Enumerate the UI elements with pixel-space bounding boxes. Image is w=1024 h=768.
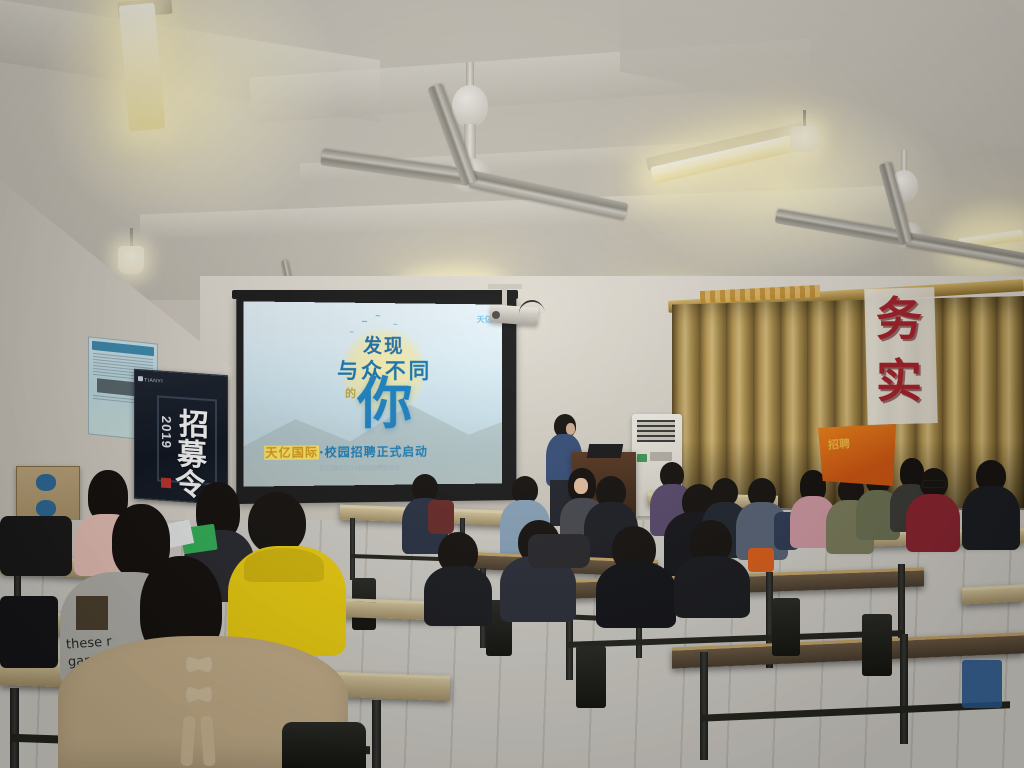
orange-item-on-desk <box>748 548 774 572</box>
desk-leg <box>700 652 708 760</box>
student-face <box>574 478 588 494</box>
student-body <box>962 486 1020 550</box>
air-conditioner-badge <box>637 454 647 462</box>
slide-subtitle: 天亿国际2019校园招聘宣讲会 <box>319 463 400 473</box>
student-backpack <box>428 500 454 534</box>
podium-laptop <box>587 444 623 458</box>
stool <box>772 598 800 656</box>
slide-headline-4: 你 <box>357 377 412 433</box>
pendant-lamp-rod-2 <box>803 110 806 126</box>
glasses-icon <box>922 480 946 488</box>
desk-bag <box>528 534 590 568</box>
hoodie-hood <box>244 548 324 582</box>
student-body <box>674 556 750 618</box>
wall-character-top: 务 <box>876 296 922 342</box>
tshirt-graphic <box>76 596 108 630</box>
student-body <box>0 596 58 668</box>
student-body <box>0 516 72 576</box>
slide-bottom-line: 天亿国际·校园招聘正式启动 <box>264 442 488 461</box>
slide-headline-3: 的 <box>345 385 356 401</box>
student-head <box>248 492 306 554</box>
projector-lens-icon <box>492 311 500 319</box>
slide-bird-3: ∼ <box>393 321 398 328</box>
desk-leg <box>10 688 19 768</box>
banner-logo-mark <box>138 376 143 381</box>
slide-bird-4: ∼ <box>349 329 354 336</box>
projection-screen-roller <box>232 290 518 299</box>
box-globe-icon-2 <box>36 500 56 517</box>
ceiling-fan-1-motor <box>452 85 488 127</box>
foreground-chair <box>282 722 366 768</box>
projection-screen: ∼ ∼ ∼ ∼ 天亿 发现 与众不同 的 你 天亿国际·校园招聘正式启动 天亿国… <box>244 301 502 486</box>
student-body <box>424 566 492 626</box>
box-globe-icon-1 <box>36 474 56 491</box>
classroom-photo: ∼ ∼ ∼ ∼ 天亿 发现 与众不同 的 你 天亿国际·校园招聘正式启动 天亿国… <box>0 0 1024 768</box>
desk-leg <box>350 518 355 580</box>
air-conditioner-vent <box>637 420 675 442</box>
slide-bottom-text: 校园招聘正式启动 <box>325 445 428 460</box>
pendant-lamp-1 <box>118 246 144 274</box>
orange-banner-text: 招聘 <box>827 435 850 452</box>
wall-character-bottom: 实 <box>876 358 922 404</box>
desk-row-far-right <box>962 584 1024 604</box>
blue-bin <box>962 660 1002 708</box>
slide-brand: 天亿国际 <box>264 445 319 460</box>
banner-accent-mark <box>161 478 171 489</box>
student-body <box>906 494 960 552</box>
air-conditioner-panel <box>650 452 672 461</box>
projector-mount-plate <box>488 284 522 289</box>
banner-year: 2019 <box>159 415 174 449</box>
orange-banner <box>818 424 896 486</box>
stool <box>862 614 892 676</box>
slide-bird-2: ∼ <box>375 312 381 320</box>
desk-leg <box>900 634 908 744</box>
notice-poster-title: 校园安全管理制度 <box>89 400 90 401</box>
presentation-slide: ∼ ∼ ∼ ∼ 天亿 发现 与众不同 的 你 天亿国际·校园招聘正式启动 天亿国… <box>244 301 502 486</box>
desk-leg <box>372 700 381 768</box>
pendant-lamp-2 <box>790 126 818 152</box>
student-body <box>596 562 676 628</box>
slide-bird-1: ∼ <box>361 317 368 326</box>
pendant-lamp-rod-1 <box>130 228 133 246</box>
stool <box>576 646 606 708</box>
banner-logo: TIANYI <box>144 377 163 384</box>
